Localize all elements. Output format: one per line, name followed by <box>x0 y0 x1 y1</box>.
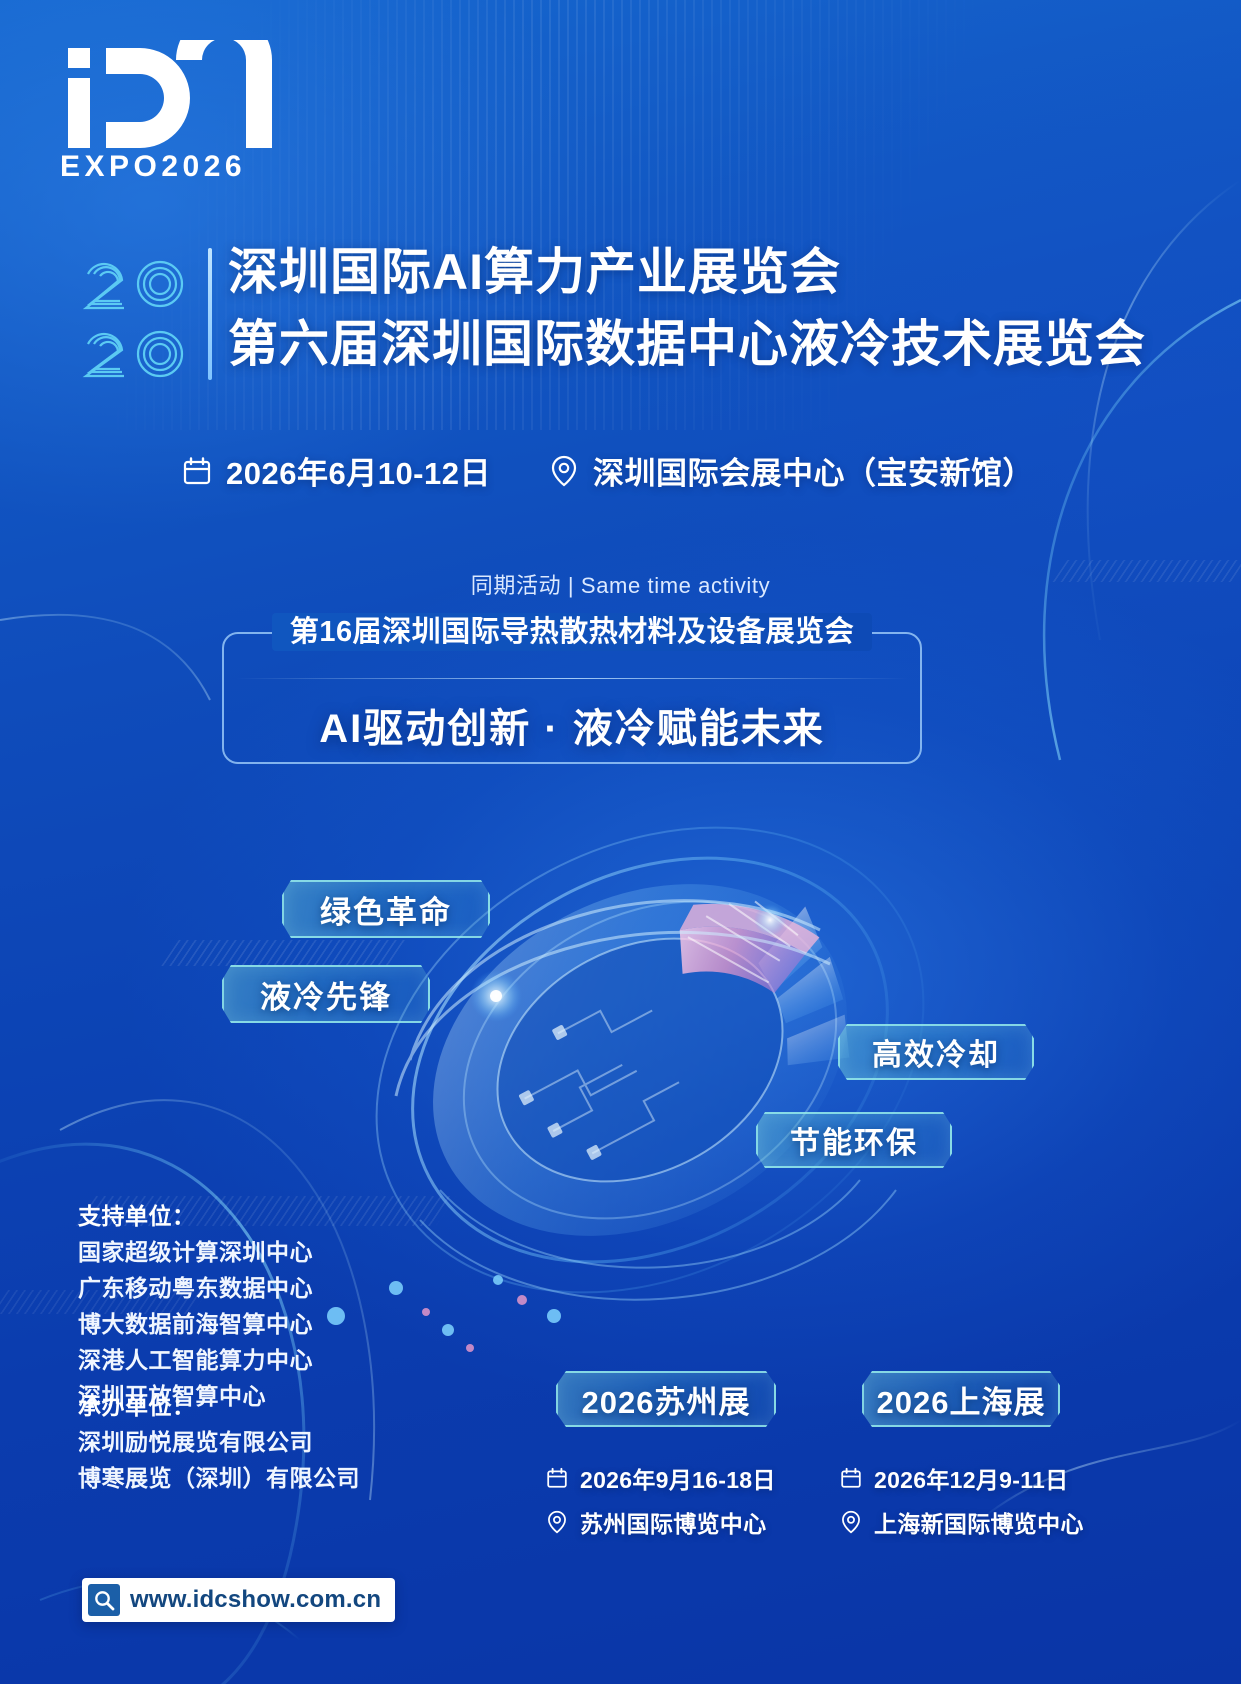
organizers-heading: 承办单位： <box>78 1388 478 1424</box>
feature-badge-energy-saving: 节能环保 <box>756 1112 952 1168</box>
city-date-row: 2026年9月16-18日 <box>546 1461 776 1495</box>
poster-root: EXPO2026 深圳国际AI算力产业展览会 第六届深圳国际数据中心液冷技术展览… <box>0 0 1241 1684</box>
location-pin-icon <box>840 1510 862 1534</box>
supporter-item: 广东移动粤东数据中心 <box>78 1270 478 1306</box>
background-stripe-block <box>161 940 409 966</box>
event-slogan: AI驱动创新 · 液冷赋能未来 <box>222 696 922 754</box>
city-venue-text: 苏州国际博览中心 <box>580 1505 766 1539</box>
city-date-text: 2026年12月9-11日 <box>874 1461 1068 1495</box>
organizers-block: 承办单位： 深圳励悦展览有限公司 博寒展览（深圳）有限公司 <box>78 1388 478 1496</box>
supporters-heading: 支持单位： <box>78 1198 478 1234</box>
calendar-icon <box>546 1467 568 1489</box>
supporters-block: 支持单位： 国家超级计算深圳中心 广东移动粤东数据中心 博大数据前海智算中心 深… <box>78 1198 478 1414</box>
event-venue-text: 深圳国际会展中心（宝安新馆） <box>593 448 1034 493</box>
event-date: 2026年6月10-12日 <box>182 448 491 493</box>
year-mark-2026 <box>78 248 198 380</box>
same-time-label: 同期活动 | Same time activity <box>0 568 1241 600</box>
location-pin-icon <box>549 455 579 487</box>
title-accent-bar <box>208 248 212 380</box>
city-venue-text: 上海新国际博览中心 <box>874 1505 1084 1539</box>
supporter-item: 深港人工智能算力中心 <box>78 1342 478 1378</box>
co-event-divider <box>236 678 908 679</box>
page-title-line2: 第六届深圳国际数据中心液冷技术展览会 <box>228 312 1208 376</box>
event-meta: 2026年6月10-12日 深圳国际会展中心（宝安新馆） <box>182 448 1034 493</box>
feature-badge-efficient-cooling: 高效冷却 <box>838 1024 1034 1080</box>
event-venue: 深圳国际会展中心（宝安新馆） <box>549 448 1034 493</box>
city-date-row: 2026年12月9-11日 <box>840 1461 1084 1495</box>
city-info-suzhou: 2026年9月16-18日 苏州国际博览中心 <box>546 1461 776 1539</box>
calendar-icon <box>182 456 212 486</box>
city-badge-shanghai: 2026上海展 <box>862 1371 1060 1427</box>
supporter-item: 国家超级计算深圳中心 <box>78 1234 478 1270</box>
main-titles: 深圳国际AI算力产业展览会 第六届深圳国际数据中心液冷技术展览会 <box>228 240 1208 376</box>
website-bar[interactable]: www.idcshow.com.cn <box>82 1578 395 1622</box>
logo-subtitle: EXPO2026 <box>60 150 246 184</box>
organizer-item: 深圳励悦展览有限公司 <box>78 1424 478 1460</box>
event-date-text: 2026年6月10-12日 <box>226 448 491 493</box>
co-event-title: 第16届深圳国际导热散热材料及设备展览会 <box>272 614 872 650</box>
co-event-frame: 第16届深圳国际导热散热材料及设备展览会 AI驱动创新 · 液冷赋能未来 <box>222 632 922 764</box>
supporter-item: 博大数据前海智算中心 <box>78 1306 478 1342</box>
city-venue-row: 苏州国际博览中心 <box>546 1505 776 1539</box>
location-pin-icon <box>546 1510 568 1534</box>
city-badge-suzhou: 2026苏州展 <box>556 1371 776 1427</box>
organizer-item: 博寒展览（深圳）有限公司 <box>78 1460 478 1496</box>
feature-badge-liquid-cooling-pioneer: 液冷先锋 <box>222 965 430 1023</box>
website-url: www.idcshow.com.cn <box>130 1586 381 1614</box>
feature-badge-green-revolution: 绿色革命 <box>282 880 490 938</box>
search-icon <box>88 1584 120 1616</box>
city-info-shanghai: 2026年12月9-11日 上海新国际博览中心 <box>840 1461 1084 1539</box>
city-venue-row: 上海新国际博览中心 <box>840 1505 1084 1539</box>
idc-logo-icon <box>62 40 312 160</box>
calendar-icon <box>840 1467 862 1489</box>
city-date-text: 2026年9月16-18日 <box>580 1461 776 1495</box>
page-title-line1: 深圳国际AI算力产业展览会 <box>228 240 1208 304</box>
